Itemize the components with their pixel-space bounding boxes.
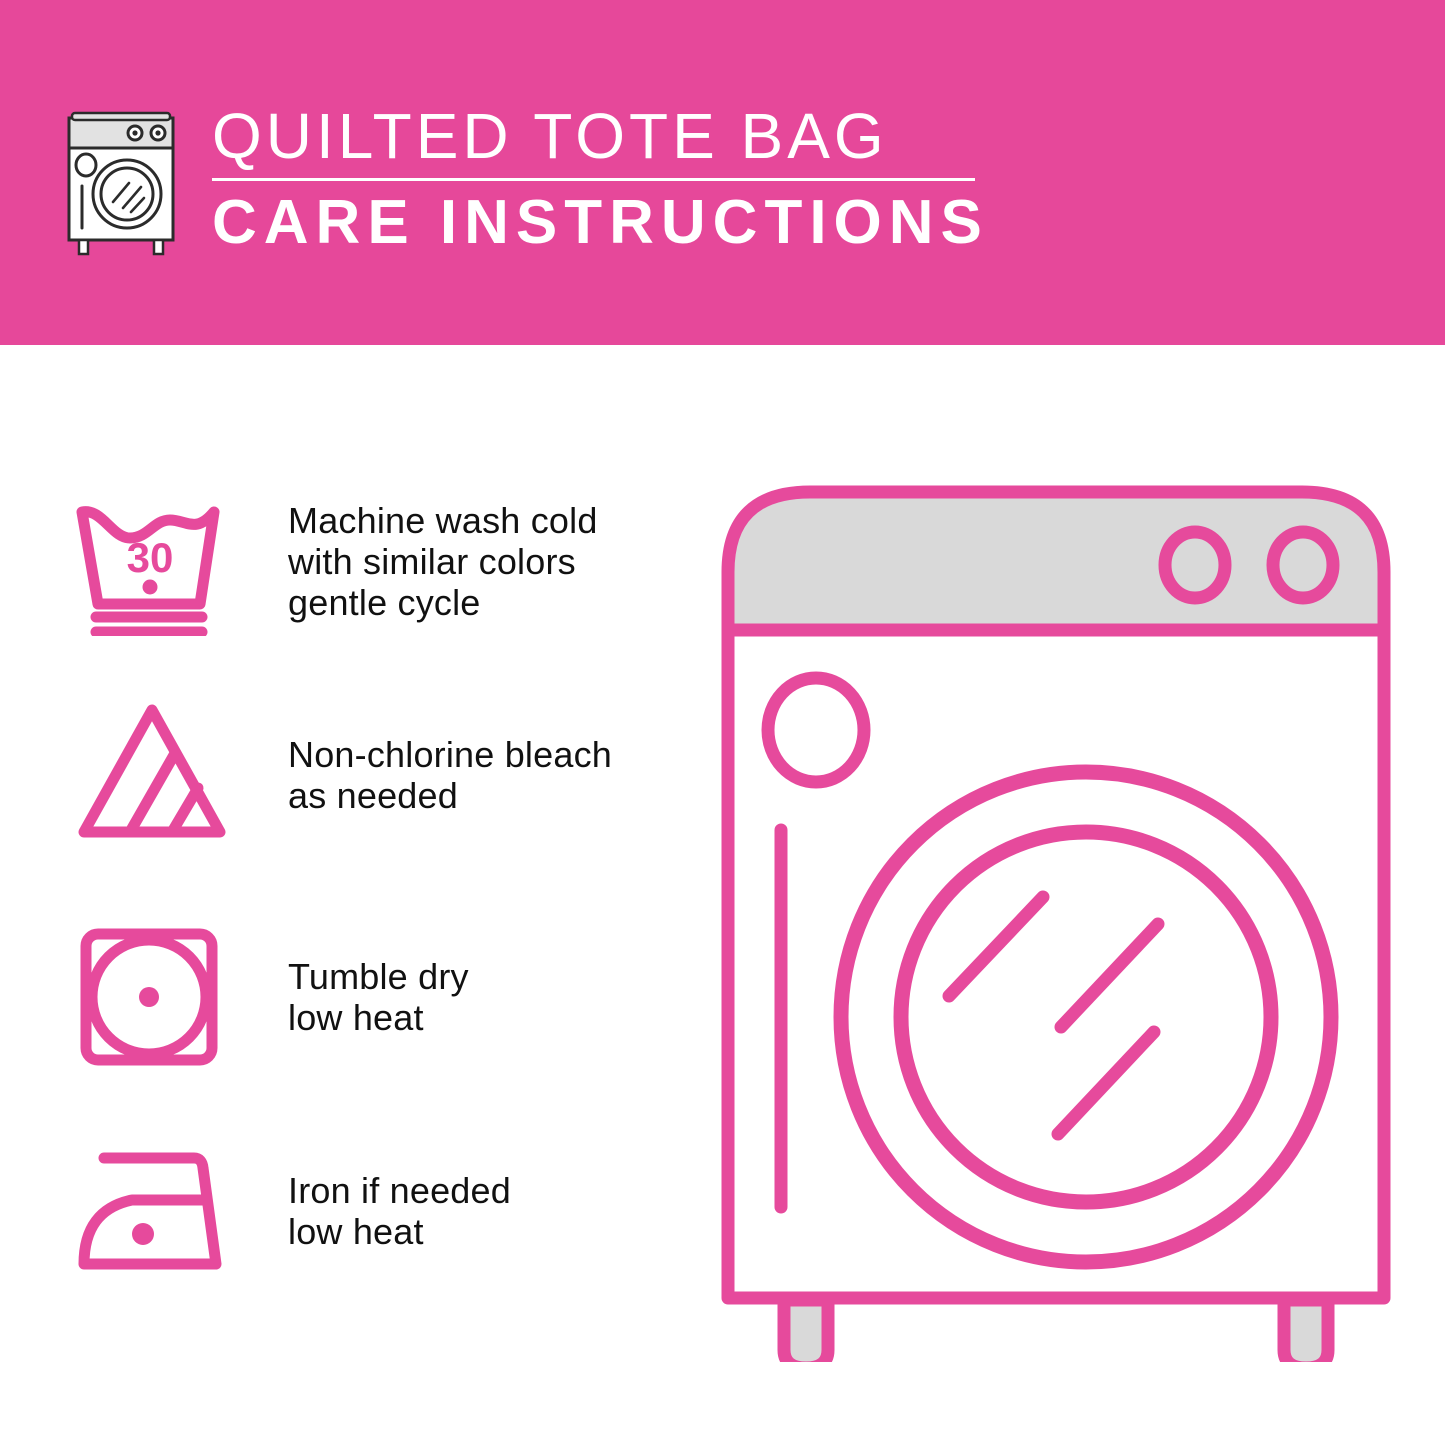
machine-leg-left <box>784 1300 828 1362</box>
care-item-tumble-dry: Tumble dry low heat <box>68 922 708 1072</box>
care-text-line: low heat <box>288 1211 511 1252</box>
header-inner: QUILTED TOTE BAG CARE INSTRUCTIONS <box>57 98 997 263</box>
care-item-text: Non-chlorine bleach as needed <box>288 698 612 816</box>
care-text-line: low heat <box>288 997 469 1038</box>
care-text-line: Iron if needed <box>288 1170 511 1211</box>
tumble-dry-low-icon <box>68 922 236 1072</box>
care-item-text: Iron if needed low heat <box>288 1138 511 1252</box>
non-chlorine-bleach-icon <box>68 698 236 848</box>
wash-temp-label: 30 <box>127 534 174 581</box>
care-text-line: Tumble dry <box>288 956 469 997</box>
care-item-text: Tumble dry low heat <box>288 922 469 1038</box>
care-text-line: gentle cycle <box>288 582 598 623</box>
machine-leg-right <box>1284 1300 1328 1362</box>
care-text-line: with similar colors <box>288 541 598 582</box>
care-text-line: as needed <box>288 775 612 816</box>
header-band: QUILTED TOTE BAG CARE INSTRUCTIONS <box>0 0 1445 345</box>
care-item-text: Machine wash cold with similar colors ge… <box>288 486 598 623</box>
control-panel <box>728 492 1384 630</box>
care-item-bleach: Non-chlorine bleach as needed <box>68 698 708 848</box>
iron-low-heat-icon <box>68 1138 236 1288</box>
washing-machine-icon <box>57 104 185 256</box>
care-instructions-page: QUILTED TOTE BAG CARE INSTRUCTIONS 3 <box>0 0 1445 1445</box>
machine-wash-30-gentle-icon: 30 <box>68 486 236 636</box>
care-item-iron: Iron if needed low heat <box>68 1138 708 1288</box>
title-divider <box>212 178 975 181</box>
header-text-block: QUILTED TOTE BAG CARE INSTRUCTIONS <box>212 98 1042 259</box>
care-text-line: Machine wash cold <box>288 500 598 541</box>
care-item-machine-wash: 30 Machine wash cold with similar colors… <box>68 486 708 636</box>
page-subtitle: CARE INSTRUCTIONS <box>212 187 1042 259</box>
page-title: QUILTED TOTE BAG <box>212 98 1042 174</box>
care-text-line: Non-chlorine bleach <box>288 734 612 775</box>
front-load-washing-machine-illustration <box>706 462 1406 1362</box>
